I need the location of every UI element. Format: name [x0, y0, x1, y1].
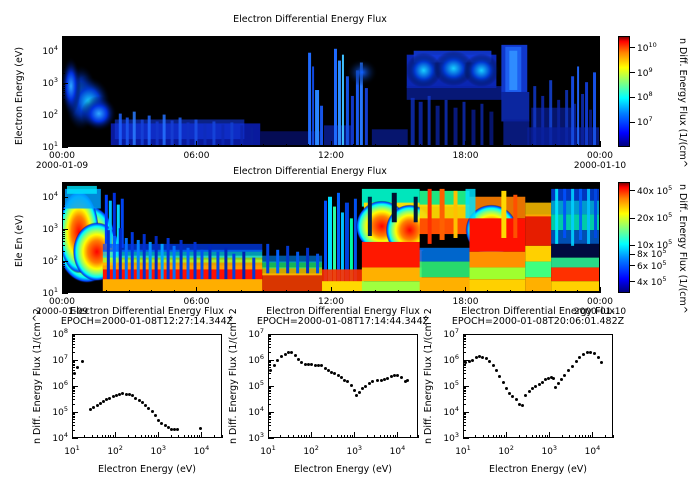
panel1-xminor [129, 144, 130, 147]
spectrum-3-xminor [562, 435, 563, 438]
spectrum-1-yminor [72, 416, 75, 417]
spectrum-3-xminor [504, 435, 505, 438]
spectrum-1-xtick-label: 102 [99, 444, 131, 457]
panel2-xminor [398, 290, 399, 293]
panel2-yminor [62, 268, 65, 269]
spectrum-2-xminor [374, 435, 375, 438]
spectrum-3-yminor [463, 339, 466, 340]
panel2-title: Electron Differential Energy Flux [0, 166, 620, 177]
spectrum-3-data-point [528, 390, 531, 393]
spectrum-3-yminor [463, 341, 466, 342]
panel2-xminor [577, 290, 578, 293]
spectrum-1-yminor [72, 344, 75, 345]
spectrum-1-yminor [72, 336, 75, 337]
spectrum-3-yminor [463, 344, 466, 345]
panel2-yminor [62, 232, 65, 233]
panel2-yminor [62, 202, 65, 203]
spectrum-1-data-point [151, 410, 154, 413]
spectrum-1-yminor [72, 365, 75, 366]
spectrum-1-ytick [72, 334, 78, 335]
spectrum-2-xminor [306, 435, 307, 438]
spectrum-3-xminor [475, 435, 476, 438]
spectrum-1-data-point [81, 360, 84, 363]
panel2-ytick-label: 104 [28, 190, 58, 203]
spectrum-2-xminor [331, 435, 332, 438]
spectrum-3-xminor [496, 435, 497, 438]
panel1-title: Electron Differential Energy Flux [0, 14, 620, 25]
spectrum-1-ytick [72, 412, 78, 413]
panel2-yminor [62, 262, 65, 263]
spectrum-2-xminor [293, 435, 294, 438]
spectrum-3-xtick-label: 102 [490, 444, 522, 457]
panel1-yminor [62, 124, 65, 125]
spectrum-2-data-point [371, 380, 374, 383]
spectrum-3-yminor [463, 413, 466, 414]
spectrum-3-data-point [571, 365, 574, 368]
panel1-xminor [577, 144, 578, 147]
panel2-xminor [443, 290, 444, 293]
spectrum-2-ytick-label: 106 [234, 353, 264, 366]
spectrum-2-yminor [268, 430, 271, 431]
spectrum-1-xminor [191, 435, 192, 438]
panel2-xminor [263, 290, 264, 293]
panel2-yminor [62, 273, 65, 274]
panel2-xminor [174, 290, 175, 293]
spectrum-3-data-point [502, 381, 505, 384]
spectrum-2-yminor [268, 367, 271, 368]
spectrum-1-xtick [201, 432, 202, 438]
panel2-xtick [600, 287, 601, 293]
spectrum-3-data-point [492, 364, 495, 367]
spectrum-1-yminor [72, 339, 75, 340]
spectrum-2-xminor [380, 435, 381, 438]
spectrum-1-xminor [135, 435, 136, 438]
spectrum-1-yminor [72, 422, 75, 423]
spectrum-3-xminor [585, 435, 586, 438]
spectrum-3-yminor [463, 422, 466, 423]
panel1-cbtick [630, 97, 635, 98]
spectrum-1-ytick [72, 360, 78, 361]
spectrum-3-data-point [567, 369, 570, 372]
spectrum-2-xminor [390, 435, 391, 438]
spectrum-2-data-point [368, 382, 371, 385]
spectrum-3-xminor [547, 435, 548, 438]
spectrum-2-xminor [393, 435, 394, 438]
spectrum-3-yminor [463, 390, 466, 391]
spectrum-3-yminor [463, 416, 466, 417]
spectrum-1-xminor [92, 435, 93, 438]
panel1-xtick [600, 141, 601, 147]
spectrum-1-xminor [151, 435, 152, 438]
panel1-yminor [62, 137, 65, 138]
spectrum-3-x-axis-label: Electron Energy (eV) [463, 464, 613, 475]
spectrum-3-xminor [532, 435, 533, 438]
panel2-ytick [62, 293, 68, 294]
spectrum-1-yminor [72, 393, 75, 394]
spectrum-3-xminor [539, 435, 540, 438]
spectrum-3-ytick [463, 438, 469, 439]
spectrum-3-yminor [463, 373, 466, 374]
spectrum-3-yminor [463, 430, 466, 431]
spectrum-3-ytick [463, 334, 469, 335]
spectrum-2-data-point [358, 391, 361, 394]
panel2-xminor [510, 290, 511, 293]
spectrum-2-xtick-label: 101 [252, 444, 284, 457]
panel2-xminor [129, 290, 130, 293]
spectrum-3-data-point [515, 398, 518, 401]
spectrum-2-xtick-label: 103 [338, 444, 370, 457]
spectrum-2-xminor [410, 435, 411, 438]
panel1-yminor [62, 127, 65, 128]
spectrum-2-yminor [268, 404, 271, 405]
panel2-yminor [62, 209, 65, 210]
spectrum-1-ytick-label: 105 [38, 405, 68, 418]
panel1-xtick-date: 2000-01-10 [570, 161, 630, 171]
spectrum-3-xminor [519, 435, 520, 438]
panel1-xtick-date: 2000-01-09 [32, 161, 92, 171]
panel1-xminor [174, 144, 175, 147]
panel1-y-axis-label: Electron Energy (eV) [14, 47, 25, 145]
panel1-xtick [465, 141, 466, 147]
spectrum-2-xtick-label: 102 [295, 444, 327, 457]
panel1-ytick [62, 147, 68, 148]
panel2-cbtick [630, 254, 635, 255]
spectrum-1-xminor [199, 435, 200, 438]
panel1-xminor [375, 144, 376, 147]
panel1-xminor [286, 144, 287, 147]
spectrum-2-yminor [268, 393, 271, 394]
panel2-yminor [62, 251, 65, 252]
panel2-y-axis-label: Ele En (eV) [14, 215, 25, 267]
spectrum-2-yminor [268, 413, 271, 414]
spectrum-3-xminor [613, 435, 614, 438]
spectrum-1-plot [72, 334, 222, 438]
spectrum-3-xminor [501, 435, 502, 438]
spectrum-3-xminor [579, 435, 580, 438]
spectrum-2-xminor [337, 435, 338, 438]
spectrum-1-yminor [72, 399, 75, 400]
panel2-cbtick [630, 265, 635, 266]
spectrum-1-yminor [72, 387, 75, 388]
panel2-cbtick-label: 10x 105 [637, 238, 672, 251]
panel1-yminor [62, 84, 65, 85]
spectrum-1-data-point [99, 402, 102, 405]
panel1-yminor [62, 92, 65, 93]
spectrum-3-xtick-label: 101 [447, 444, 479, 457]
panel2-yminor [62, 266, 65, 267]
panel1-colorbar [618, 36, 630, 147]
spectrum-3-data-point [468, 360, 471, 363]
panel1-xminor [308, 144, 309, 147]
panel1-xminor [241, 144, 242, 147]
panel2-yminor [62, 230, 65, 231]
spectrum-1-yminor [72, 338, 75, 339]
panel1-xminor [218, 144, 219, 147]
spectrum-1-xminor [222, 435, 223, 438]
spectrum-3-yminor [463, 414, 466, 415]
spectrum-3-data-point [578, 356, 581, 359]
spectrum-1-yminor [72, 396, 75, 397]
panel2-xminor [151, 290, 152, 293]
spectrum-2-xminor [324, 435, 325, 438]
spectrum-1-xminor [108, 435, 109, 438]
panel1-cbtick [630, 122, 635, 123]
panel1-yminor [62, 88, 65, 89]
panel2-xminor [84, 290, 85, 293]
panel1-yminor [62, 58, 65, 59]
spectrum-1-yminor [72, 335, 75, 336]
spectrum-1-xminor [105, 435, 106, 438]
spectrum-3-yminor [463, 425, 466, 426]
spectrum-1-yminor [72, 413, 75, 414]
panel2-spectrogram [62, 182, 600, 293]
spectrum-1-xtick-label: 103 [142, 444, 174, 457]
panel1-xtick [331, 141, 332, 147]
panel1-yminor [62, 86, 65, 87]
panel1-yminor [62, 122, 65, 123]
spectrum-3-yminor [463, 338, 466, 339]
panel2-yminor [62, 200, 65, 201]
panel1-yminor [62, 120, 65, 121]
spectrum-1-yminor [72, 404, 75, 405]
panel1-yminor [62, 67, 65, 68]
panel1-xtick-label: 00:00 [38, 151, 86, 161]
spectrum-2-xminor [280, 435, 281, 438]
spectrum-3-xtick [592, 432, 593, 438]
spectrum-3-yminor [463, 370, 466, 371]
panel1-xminor [398, 144, 399, 147]
spectrum-2-xminor [352, 435, 353, 438]
spectrum-1-xminor [113, 435, 114, 438]
panel2-colorbar [618, 182, 630, 293]
spectrum-2-data-point [294, 354, 297, 357]
spectrum-3-xtick [506, 432, 507, 438]
spectrum-3-data-point [505, 387, 508, 390]
spectrum-1-yminor [72, 341, 75, 342]
spectrum-3-xminor [545, 435, 546, 438]
spectrum-1-xminor [84, 435, 85, 438]
spectrum-3-data-point [541, 381, 544, 384]
panel2-spectrogram-image [63, 183, 599, 292]
spectrum-2-xminor [384, 435, 385, 438]
panel2-xminor [420, 290, 421, 293]
panel2-xminor [286, 290, 287, 293]
spectrum-1-ytick-label: 106 [38, 379, 68, 392]
spectrum-1-xtick-label: 101 [56, 444, 88, 457]
panel1-xminor [353, 144, 354, 147]
panel1-cbtick [630, 72, 635, 73]
spectrum-3-yminor [463, 335, 466, 336]
panel1-yminor [62, 90, 65, 91]
panel1-cbtick [630, 47, 635, 48]
spectrum-2-yminor [268, 414, 271, 415]
panel1-yminor [62, 63, 65, 64]
spectrum-2-yminor [268, 344, 271, 345]
panel2-cbtick-label: 40x 105 [637, 184, 672, 197]
spectrum-3-ytick-label: 103 [429, 431, 459, 444]
spectrum-2-xtick-label: 104 [381, 444, 413, 457]
spectrum-1-yminor [72, 362, 75, 363]
spectrum-1-xminor [128, 435, 129, 438]
spectrum-1-data-point [199, 427, 202, 430]
panel1-cbtick-label: 108 [637, 90, 653, 103]
panel1-xtick-label: 06:00 [173, 151, 221, 161]
spectrum-1-ytick [72, 438, 78, 439]
spectrum-3-yminor [463, 399, 466, 400]
spectrum-3-xtick-label: 103 [533, 444, 565, 457]
spectrum-1-yminor [72, 430, 75, 431]
panel1-xminor [443, 144, 444, 147]
spectrum-2-xtick [354, 432, 355, 438]
panel2-ytick-label: 103 [28, 222, 58, 235]
spectrum-1-yminor [72, 367, 75, 368]
spectrum-3-yminor [463, 367, 466, 368]
spectrum-2-yminor [268, 347, 271, 348]
spectrum-2-ytick-label: 104 [234, 405, 264, 418]
panel2-yminor [62, 198, 65, 199]
spectrum-2-yminor [268, 335, 271, 336]
panel1-spectrogram [62, 36, 600, 147]
spectrum-2-yminor [268, 378, 271, 379]
panel2-yminor [62, 206, 65, 207]
spectrum-2-xminor [350, 435, 351, 438]
panel1-yminor [62, 54, 65, 55]
panel1-yminor [62, 118, 65, 119]
spectrum-2-xminor [309, 435, 310, 438]
spectrum-1-yminor [72, 419, 75, 420]
panel1-xtick [62, 141, 63, 147]
panel2-cbtick [630, 190, 635, 191]
spectrum-1-yminor [72, 361, 75, 362]
spectrum-3-ytick-label: 107 [429, 327, 459, 340]
spectrum-3-xminor [526, 435, 527, 438]
panel2-cbtick [630, 218, 635, 219]
panel1-spectrogram-image [63, 37, 599, 146]
spectrum-2-yminor [268, 417, 271, 418]
spectrum-2-ytick-label: 105 [234, 379, 264, 392]
spectrum-3-data-point [593, 352, 596, 355]
spectrum-3-ytick-label: 104 [429, 405, 459, 418]
spectrum-2-xminor [387, 435, 388, 438]
spectrum-3-yminor [463, 347, 466, 348]
spectrum-2-data-point [355, 394, 358, 397]
spectrum-2-yminor [268, 352, 271, 353]
panel2-cbtick-label: 6x 105 [637, 259, 667, 272]
panel2-yminor [62, 283, 65, 284]
spectrum-3-xminor [590, 435, 591, 438]
spectrum-3-yminor [463, 336, 466, 337]
panel1-xminor [555, 144, 556, 147]
panel1-yminor [62, 52, 65, 53]
spectrum-3-xminor [493, 435, 494, 438]
panel2-xtick [62, 287, 63, 293]
panel1-cbtick-label: 109 [637, 66, 653, 79]
panel1-xminor [420, 144, 421, 147]
spectrum-3-yminor [463, 352, 466, 353]
panel2-xminor [353, 290, 354, 293]
spectrum-1-xminor [178, 435, 179, 438]
spectrum-3-yminor [463, 404, 466, 405]
spectrum-1-yminor [72, 388, 75, 389]
panel2-yminor [62, 236, 65, 237]
spectrum-3-data-point [538, 383, 541, 386]
panel1-ytick-label: 104 [28, 44, 58, 57]
panel2-yminor [62, 234, 65, 235]
panel1-xminor [263, 144, 264, 147]
spectrum-1-xminor [110, 435, 111, 438]
spectrum-2-xtick [397, 432, 398, 438]
panel1-xtick-label: 12:00 [307, 151, 355, 161]
spectrum-2-yminor [268, 361, 271, 362]
spectrum-1-xminor [197, 435, 198, 438]
spectrum-3-xminor [542, 435, 543, 438]
spectrum-3-data-point [597, 356, 600, 359]
spectrum-2-xminor [344, 435, 345, 438]
panel1-yminor [62, 60, 65, 61]
panel2-yminor [62, 264, 65, 265]
panel2-cbtick [630, 281, 635, 282]
panel2-xminor [218, 290, 219, 293]
spectrum-1-xtick-label: 104 [185, 444, 217, 457]
spectrum-2-ytick [268, 334, 274, 335]
panel2-xtick [196, 287, 197, 293]
spectrum-2-yminor [268, 390, 271, 391]
panel1-xminor [151, 144, 152, 147]
panel1-yminor [62, 99, 65, 100]
spectrum-3-data-point [498, 375, 501, 378]
spectrum-1-xminor [184, 435, 185, 438]
spectrum-2-yminor [268, 425, 271, 426]
spectrum-2-ytick-label: 103 [234, 431, 264, 444]
spectrum-2-data-point [350, 384, 353, 387]
panel1-xtick-label: 18:00 [442, 151, 490, 161]
spectrum-2-yminor [268, 387, 271, 388]
panel1-xminor [84, 144, 85, 147]
spectrum-3-xminor [605, 435, 606, 438]
spectrum-1-xtick [158, 432, 159, 438]
spectrum-2-yminor [268, 365, 271, 366]
spectrum-2-xminor [304, 435, 305, 438]
panel1-yminor [62, 131, 65, 132]
spectrum-3-yminor [463, 378, 466, 379]
panel1-ytick-label: 102 [28, 108, 58, 121]
spectrum-2-xtick [311, 432, 312, 438]
panel1-yminor [62, 73, 65, 74]
spectrum-3-ytick [463, 386, 469, 387]
spectrum-3-yminor [463, 365, 466, 366]
spectrum-1-xminor [141, 435, 142, 438]
spectrum-2-yminor [268, 416, 271, 417]
spectrum-3-xminor [499, 435, 500, 438]
spectrum-3-yminor [463, 387, 466, 388]
spectrum-1-xminor [148, 435, 149, 438]
spectrum-1-xminor [102, 435, 103, 438]
panel2-yminor [62, 238, 65, 239]
spectrum-3-xtick [549, 432, 550, 438]
spectrum-2-ytick [268, 360, 274, 361]
spectrum-2-yminor [268, 373, 271, 374]
spectrum-2-data-point [376, 379, 379, 382]
panel1-yminor [62, 95, 65, 96]
spectrum-1-yminor [72, 347, 75, 348]
spectrum-1-data-point [157, 419, 160, 422]
panel2-xminor [308, 290, 309, 293]
spectrum-2-data-point [353, 389, 356, 392]
spectrum-2-yminor [268, 419, 271, 420]
spectrum-1-xminor [154, 435, 155, 438]
spectrum-2-xminor [301, 435, 302, 438]
spectrum-1-xminor [194, 435, 195, 438]
